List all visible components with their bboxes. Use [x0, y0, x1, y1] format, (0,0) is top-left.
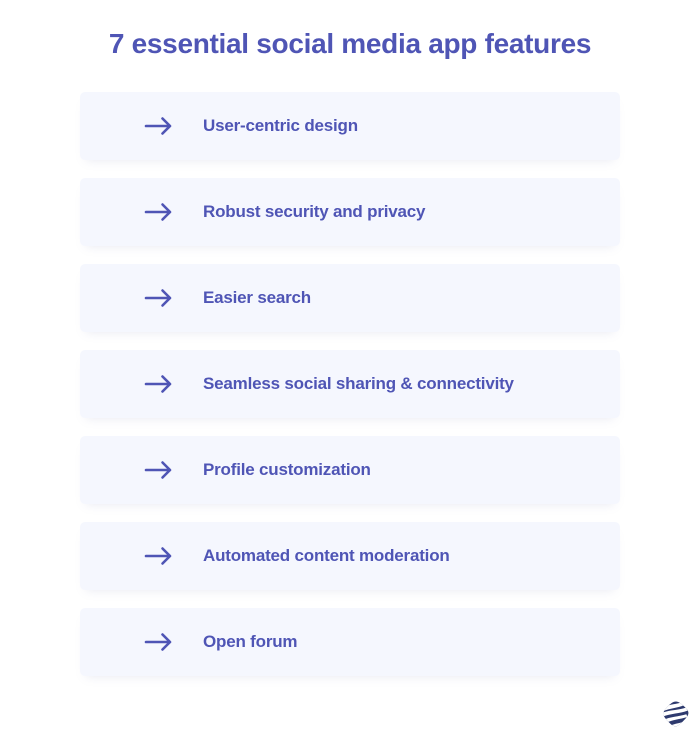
list-item[interactable]: Seamless social sharing & connectivity	[80, 350, 620, 418]
list-item[interactable]: Easier search	[80, 264, 620, 332]
feature-list: User-centric design Robust security and …	[80, 92, 620, 676]
list-item-label: User-centric design	[203, 116, 358, 136]
list-item-label: Easier search	[203, 288, 311, 308]
list-item-label: Open forum	[203, 632, 297, 652]
list-item-label: Seamless social sharing & connectivity	[203, 374, 514, 394]
arrow-right-icon	[144, 544, 174, 568]
poster-canvas: 7 essential social media app features Us…	[0, 0, 700, 741]
arrow-right-icon	[144, 200, 174, 224]
arrow-right-icon	[144, 458, 174, 482]
list-item[interactable]: Profile customization	[80, 436, 620, 504]
list-item[interactable]: Robust security and privacy	[80, 178, 620, 246]
list-item[interactable]: User-centric design	[80, 92, 620, 160]
list-item[interactable]: Automated content moderation	[80, 522, 620, 590]
list-item-label: Automated content moderation	[203, 546, 450, 566]
arrow-right-icon	[144, 372, 174, 396]
list-item-label: Profile customization	[203, 460, 371, 480]
arrow-right-icon	[144, 114, 174, 138]
arrow-right-icon	[144, 286, 174, 310]
arrow-right-icon	[144, 630, 174, 654]
brand-logo	[662, 700, 690, 728]
page-title: 7 essential social media app features	[0, 24, 700, 64]
list-item-label: Robust security and privacy	[203, 202, 425, 222]
list-item[interactable]: Open forum	[80, 608, 620, 676]
